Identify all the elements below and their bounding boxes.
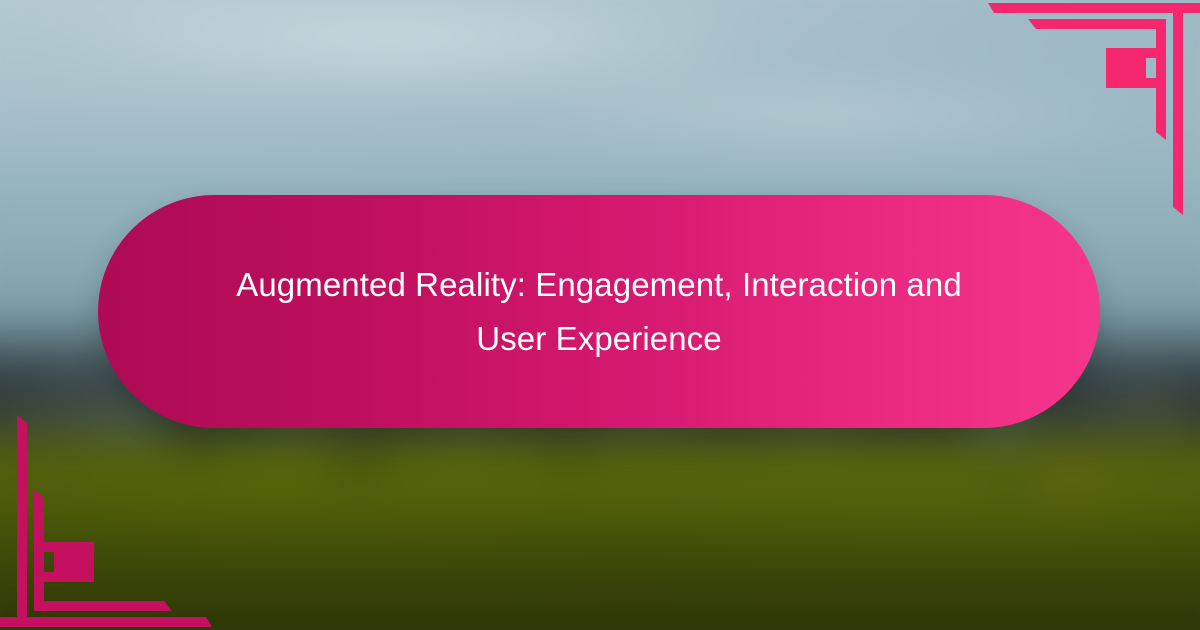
blurred-figure bbox=[310, 435, 406, 491]
title-card: Augmented Reality: Engagement, Interacti… bbox=[98, 195, 1100, 428]
blurred-figure bbox=[983, 435, 1027, 497]
cloud-streak-icon bbox=[0, 8, 811, 76]
blurred-figure bbox=[1049, 443, 1097, 501]
blurred-figure bbox=[1135, 386, 1175, 430]
page-title: Augmented Reality: Engagement, Interacti… bbox=[219, 258, 979, 365]
cloud-streak-icon bbox=[468, 90, 1194, 150]
social-card-canvas: Augmented Reality: Engagement, Interacti… bbox=[0, 0, 1200, 630]
